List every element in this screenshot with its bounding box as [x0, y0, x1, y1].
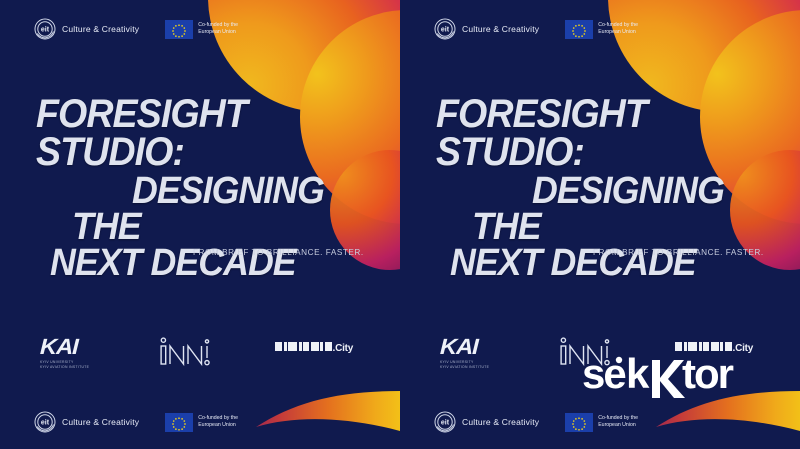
- eit-circle-icon: eit: [34, 18, 56, 40]
- headline-line-4: THE: [72, 210, 367, 246]
- tagline: FROM BRIEF TO BRILLIANCE. FASTER.: [193, 248, 364, 257]
- eu-funding-line2: European Union: [198, 29, 236, 35]
- partner-logo-strip: KAI KYIV UNIVERSITY KYIV AVIATION INSTIT…: [40, 336, 370, 370]
- sekktor-logo: se k tor: [582, 352, 768, 398]
- svg-text:k: k: [626, 352, 650, 397]
- eu-flag-icon: [565, 413, 593, 432]
- eu-funding-text-footer: Co-funded by the European Union: [198, 415, 238, 428]
- kai-wordmark: KAI: [440, 336, 529, 358]
- svg-text:tor: tor: [682, 352, 734, 397]
- headline-line-1: FORESIGHT: [36, 96, 365, 134]
- poster-left: eit Culture & Creativity: [0, 0, 400, 449]
- kai-subtext-line1: KYIV UNIVERSITY: [40, 360, 74, 364]
- eu-funding-logo-footer: Co-funded by the European Union: [565, 413, 638, 432]
- eu-funding-text-footer: Co-funded by the European Union: [598, 415, 638, 428]
- eit-circle-icon: eit: [434, 18, 456, 40]
- headline-line-1: FORESIGHT: [436, 96, 765, 134]
- kai-subtext-line2: KYIV AVIATION INSTITUTE: [440, 365, 489, 369]
- unit-city-suffix: .City: [333, 343, 354, 354]
- eu-funding-line1: Co-funded by the: [198, 22, 238, 28]
- kai-subtext: KYIV UNIVERSITY KYIV AVIATION INSTITUTE: [440, 360, 522, 369]
- kai-subtext-line1: KYIV UNIVERSITY: [440, 360, 474, 364]
- eu-funding-line1: Co-funded by the: [598, 22, 638, 28]
- poster-right: eit Culture & Creativity: [400, 0, 800, 449]
- kai-logo: KAI KYIV UNIVERSITY KYIV AVIATION INSTIT…: [440, 336, 522, 369]
- unit-wordmark: [675, 342, 732, 351]
- headline-line-2: STUDIO:: [36, 134, 365, 172]
- kai-subtext: KYIV UNIVERSITY KYIV AVIATION INSTITUTE: [40, 360, 122, 369]
- eu-funding-line1-footer: Co-funded by the: [598, 415, 638, 421]
- header-logo-row: eit Culture & Creativity: [434, 18, 638, 40]
- tagline: FROM BRIEF TO BRILLIANCE. FASTER.: [593, 248, 764, 257]
- eu-funding-line2-footer: European Union: [598, 422, 636, 428]
- eit-circle-icon: eit: [434, 411, 456, 433]
- inn-outline-logo: [158, 334, 222, 368]
- eit-circle-icon: eit: [34, 411, 56, 433]
- eu-flag-icon: [565, 20, 593, 39]
- headline-line-3: DESIGNING: [132, 174, 371, 210]
- eu-flag-icon: [165, 413, 193, 432]
- eu-funding-logo: Co-funded by the European Union: [165, 20, 238, 39]
- kai-logo: KAI KYIV UNIVERSITY KYIV AVIATION INSTIT…: [40, 336, 122, 369]
- eu-funding-line2-footer: European Union: [198, 422, 236, 428]
- eit-logo-label: Culture & Creativity: [462, 24, 539, 34]
- kai-wordmark: KAI: [40, 336, 129, 358]
- poster-pair-stage: eit Culture & Creativity: [0, 0, 800, 449]
- eu-funding-line2: European Union: [598, 29, 636, 35]
- headline-line-3: DESIGNING: [532, 174, 771, 210]
- header-logo-row: eit Culture & Creativity: [34, 18, 238, 40]
- eit-logo-footer: eit Culture & Creativity: [434, 411, 539, 433]
- eu-funding-text: Co-funded by the European Union: [198, 22, 238, 35]
- svg-text:eit: eit: [41, 420, 50, 427]
- eit-logo-label-footer: Culture & Creativity: [62, 417, 139, 427]
- svg-text:eit: eit: [41, 27, 50, 34]
- eit-logo-footer: eit Culture & Creativity: [34, 411, 139, 433]
- svg-text:eit: eit: [441, 27, 450, 34]
- eu-flag-icon: [165, 20, 193, 39]
- eit-logo-label-footer: Culture & Creativity: [462, 417, 539, 427]
- unit-wordmark: [275, 342, 332, 351]
- headline-line-2: STUDIO:: [436, 134, 765, 172]
- eit-logo: eit Culture & Creativity: [34, 18, 139, 40]
- footer-logo-row: eit Culture & Creativity: [34, 411, 238, 433]
- eu-funding-text: Co-funded by the European Union: [598, 22, 638, 35]
- svg-text:eit: eit: [441, 420, 450, 427]
- kai-subtext-line2: KYIV AVIATION INSTITUTE: [40, 365, 89, 369]
- headline-line-4: THE: [472, 210, 767, 246]
- eu-funding-logo: Co-funded by the European Union: [565, 20, 638, 39]
- unit-city-logo: .City: [275, 342, 353, 354]
- eu-funding-logo-footer: Co-funded by the European Union: [165, 413, 238, 432]
- eit-logo-label: Culture & Creativity: [62, 24, 139, 34]
- eu-funding-line1-footer: Co-funded by the: [198, 415, 238, 421]
- eit-logo: eit Culture & Creativity: [434, 18, 539, 40]
- footer-logo-row: eit Culture & Creativity: [434, 411, 638, 433]
